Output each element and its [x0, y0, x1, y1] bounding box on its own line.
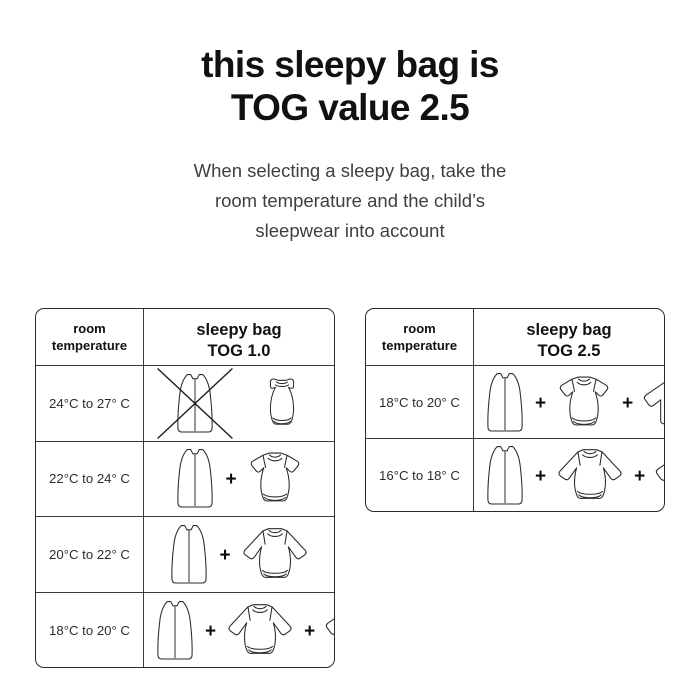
room-temperature-value: 18°C to 20° C [49, 623, 130, 638]
room-temperature-cell: 16°C to 18° C [366, 439, 474, 512]
table-row: 24°C to 27° C [36, 366, 334, 442]
header-sleepy-bag-tog: sleepy bagTOG 2.5 [474, 309, 664, 365]
subtitle-line-1: When selecting a sleepy bag, take the [135, 156, 565, 186]
room-temperature-value: 22°C to 24° C [49, 471, 130, 486]
room-temperature-cell: 18°C to 20° C [36, 593, 144, 669]
bodysuit-short-sleeve-illustration [244, 450, 306, 507]
room-temperature-cell: 18°C to 20° C [366, 366, 474, 438]
room-temperature-value: 20°C to 22° C [49, 547, 130, 562]
header-room-temperature: roomtemperature [366, 309, 474, 365]
room-temperature-cell: 22°C to 24° C [36, 442, 144, 517]
sleepwear-combination-cell: + + [474, 439, 665, 512]
sleepwear-combination-cell: + + [474, 366, 665, 438]
sleeping-bag-illustration [152, 599, 198, 662]
header-sleepy-bag-tog: sleepy bagTOG 1.0 [144, 309, 334, 365]
bodysuit-long-sleeve-illustration [553, 447, 627, 504]
sleepwear-combination-cell: + [144, 517, 334, 592]
plus-icon: + [225, 470, 236, 489]
plus-icon: + [634, 467, 645, 486]
plus-icon: + [535, 394, 546, 413]
sleeping-bag-illustration [172, 372, 218, 435]
cardigan-illustration [640, 375, 665, 429]
table-row: 22°C to 24° C + [36, 442, 334, 518]
room-temperature-cell: 20°C to 22° C [36, 517, 144, 592]
header-bag-line-2: TOG 2.5 [482, 341, 656, 362]
sleeping-bag-illustration [482, 371, 528, 434]
cardigan-illustration [322, 603, 335, 657]
page-subtitle: When selecting a sleepy bag, take the ro… [135, 156, 565, 246]
room-temperature-value: 16°C to 18° C [379, 468, 460, 483]
header-bag-line-2: TOG 1.0 [152, 341, 326, 362]
plus-icon: + [219, 546, 230, 565]
sleepwear-combination-cell [144, 366, 334, 441]
title-line-2: TOG value 2.5 [90, 87, 610, 130]
plus-icon: + [205, 622, 216, 641]
header-bag-line-1: sleepy bag [196, 321, 281, 339]
table-tog-2-5: roomtemperaturesleepy bagTOG 2.518°C to … [365, 308, 665, 512]
plus-icon: + [304, 622, 315, 641]
header-bag-line-1: sleepy bag [526, 321, 611, 339]
sleeping-bag-illustration [172, 447, 218, 510]
bodysuit-long-sleeve-illustration [238, 526, 312, 583]
room-temperature-value: 18°C to 20° C [379, 395, 460, 410]
bodysuit-sleeveless-illustration [258, 376, 306, 431]
table-tog-1-0: roomtemperaturesleepy bagTOG 1.024°C to … [35, 308, 335, 668]
cardigan-illustration [652, 449, 665, 503]
plus-icon: + [622, 394, 633, 413]
sleeping-bag-illustration [166, 523, 212, 586]
bodysuit-long-sleeve-illustration [223, 602, 297, 659]
table-header-row: roomtemperaturesleepy bagTOG 1.0 [36, 309, 334, 366]
page-header: this sleepy bag is TOG value 2.5 When se… [0, 0, 700, 246]
plus-icon: + [535, 467, 546, 486]
subtitle-line-2: room temperature and the child’s [135, 186, 565, 216]
table-row: 18°C to 20° C + + [366, 366, 664, 439]
room-temperature-cell: 24°C to 27° C [36, 366, 144, 441]
title-line-1: this sleepy bag is [90, 44, 610, 87]
bodysuit-short-sleeve-illustration [553, 374, 615, 431]
table-row: 16°C to 18° C + + [366, 439, 664, 512]
sleepwear-combination-cell: + + [144, 593, 335, 669]
sleeping-bag-illustration [482, 444, 528, 507]
header-room-temperature: roomtemperature [36, 309, 144, 365]
subtitle-line-3: sleepwear into account [135, 216, 565, 246]
sleepwear-combination-cell: + [144, 442, 334, 517]
table-header-row: roomtemperaturesleepy bagTOG 2.5 [366, 309, 664, 366]
room-temperature-value: 24°C to 27° C [49, 396, 130, 411]
table-row: 20°C to 22° C + [36, 517, 334, 593]
table-row: 18°C to 20° C + + [36, 593, 334, 669]
page-title: this sleepy bag is TOG value 2.5 [90, 44, 610, 130]
